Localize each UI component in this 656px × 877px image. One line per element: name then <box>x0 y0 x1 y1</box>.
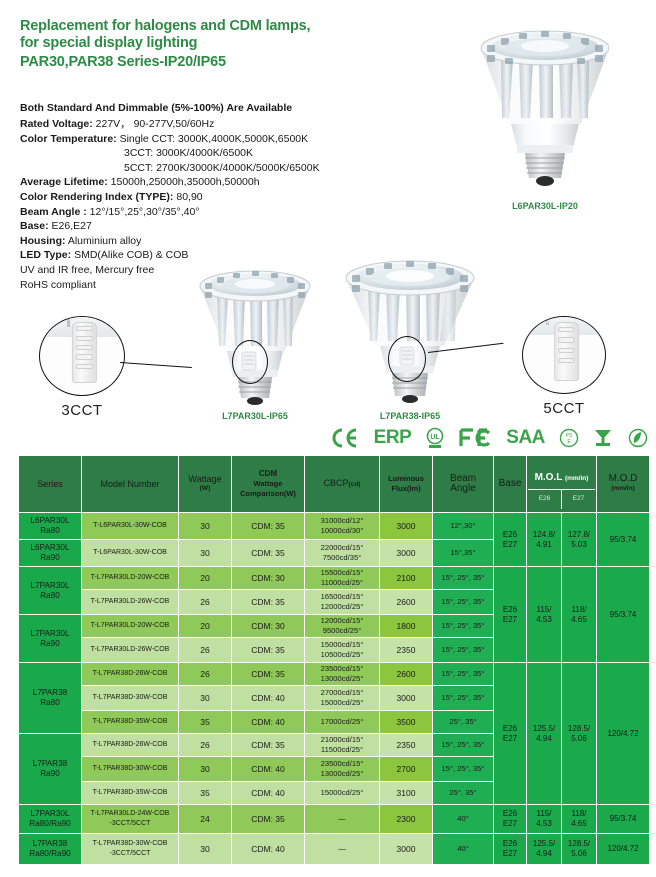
cell-series: L7PAR30LRa80 <box>19 567 81 614</box>
cell-cbcp: 23500cd/15°13000cd/25° <box>305 757 379 781</box>
cell-model-number: T-L7PAR38D-26W-COB <box>82 663 178 685</box>
cell-cbcp: 27000cd/15°15000cd/25° <box>305 686 379 710</box>
cell-cbcp: 22000cd/15°7500cd/35° <box>305 540 379 566</box>
bulb-l6par30l-icon <box>455 14 635 194</box>
cell-beam-angle: 15°, 25°, 35° <box>433 567 493 589</box>
cell-series: L7PAR30LRa90 <box>19 615 81 662</box>
table-row: L6PAR30LRa80T-L6PAR30L-30W-COB30CDM: 353… <box>19 513 649 539</box>
saa-mark-label: SAA <box>506 427 545 449</box>
cell-cbcp: 23500cd/15°13000cd/25° <box>305 663 379 685</box>
cell-wattage: 35 <box>179 711 231 733</box>
product-caption-l7par30l: L7PAR30L-IP65 <box>180 411 330 421</box>
cell-beam-angle: 25°, 35° <box>433 782 493 804</box>
spec-rated-voltage-value: 227V， 90-277V,50/60Hz <box>96 118 215 130</box>
cell-mol-e26: 115/4.53 <box>527 805 561 833</box>
ul-mark-icon: UL <box>425 427 445 449</box>
svg-text:RoHS: RoHS <box>633 444 643 448</box>
col-model-number: Model Number <box>82 456 178 512</box>
cell-wattage: 30 <box>179 686 231 710</box>
cell-wattage: 20 <box>179 567 231 589</box>
spec-color-temperature-value: Single CCT: 3000K,4000K,5000K,6500K <box>120 133 309 145</box>
headline-line-1: Replacement for halogens and CDM lamps, <box>20 18 450 35</box>
ce-mark-icon <box>330 427 360 449</box>
cell-cdm-comparison: CDM: 40 <box>232 782 304 804</box>
cell-wattage: 26 <box>179 590 231 614</box>
product-caption-l7par38: L7PAR38-IP65 <box>330 411 490 421</box>
cell-beam-angle: 40° <box>433 805 493 833</box>
cell-wattage: 26 <box>179 734 231 756</box>
cell-luminous-flux: 1800 <box>380 615 432 637</box>
cell-luminous-flux: 2600 <box>380 590 432 614</box>
cct5-scale-labels: 2700K 3000K 4000K 5000K 6500K <box>545 316 550 325</box>
cell-wattage: 30 <box>179 757 231 781</box>
spec-color-temperature: Color Temperature: Single CCT: 3000K,400… <box>20 132 440 147</box>
cell-beam-angle: 15°, 25°, 35° <box>433 663 493 685</box>
product-l7par38-ip65: L7PAR38-IP65 <box>330 246 490 421</box>
cell-mol-e26: 125.5/4.94 <box>527 663 561 804</box>
cell-beam-angle: 12°,30° <box>433 513 493 539</box>
cell-cdm-comparison: CDM: 35 <box>232 805 304 833</box>
cell-cdm-comparison: CDM: 40 <box>232 686 304 710</box>
spec-average-lifetime-label: Average Lifetime: <box>20 176 108 188</box>
cell-luminous-flux: 2300 <box>380 805 432 833</box>
spec-base-label: Base: <box>20 220 49 232</box>
col-cbcp-title: CBCP <box>324 478 349 488</box>
cell-wattage: 30 <box>179 834 231 864</box>
cell-model-number: T-L7PAR30LD-26W-COB <box>82 590 178 614</box>
col-beam-l2: Angle <box>434 484 492 494</box>
cell-mod: 95/3.74 <box>597 513 649 566</box>
col-mol-unit: (mm/in) <box>565 475 588 482</box>
cell-beam-angle: 15°, 25°, 35° <box>433 615 493 637</box>
svg-text:E: E <box>567 439 571 445</box>
spec-led-type-label: LED Type: <box>20 249 71 261</box>
col-mol-e27: E27 <box>562 490 595 509</box>
table-row: L7PAR38Ra80/Ra90T-L7PAR38D-30W-COB-3CCT/… <box>19 834 649 864</box>
cell-series: L7PAR30LRa80/Ra90 <box>19 805 81 833</box>
headline-series: PAR30,PAR38 Series-IP20/IP65 <box>20 53 450 72</box>
cell-luminous-flux: 3000 <box>380 686 432 710</box>
col-base: Base <box>494 456 526 512</box>
dlc-mark-icon <box>592 428 614 448</box>
cell-cdm-comparison: CDM: 35 <box>232 638 304 662</box>
cell-cbcp: — <box>305 834 379 864</box>
col-cdm-comparison: CDM Wattage Comparison(W) <box>232 456 304 512</box>
col-wattage-unit: (W) <box>180 484 230 494</box>
cell-model-number: T-L7PAR30LD-20W-COB <box>82 615 178 637</box>
cell-mol-e26: 115/4.53 <box>527 567 561 662</box>
l7par38-switch-highlight <box>388 336 426 382</box>
certification-logos: ERP UL SAA PS E Ro <box>330 424 648 452</box>
cell-cbcp: 15000cd/25° <box>305 782 379 804</box>
cct3-switch-zoom: 3000K 4000K 6500K <box>39 316 125 396</box>
cct3-switch-body <box>72 322 97 383</box>
cell-base: E26E27 <box>494 834 526 864</box>
product-l6par30l-ip20: L6PAR30L-IP20 <box>455 14 635 211</box>
cell-cbcp: 12000cd/15°9500cd/25° <box>305 615 379 637</box>
cell-cbcp: 16500cd/15°12000cd/25° <box>305 590 379 614</box>
cell-luminous-flux: 2350 <box>380 638 432 662</box>
cell-wattage: 20 <box>179 615 231 637</box>
cell-model-number: T-L7PAR30LD-20W-COB <box>82 567 178 589</box>
col-cdm-l1: CDM <box>233 469 303 479</box>
bulb-l7par30l-icon <box>180 256 330 408</box>
spec-rated-voltage: Rated Voltage: 227V， 90-277V,50/60Hz <box>20 117 440 132</box>
cell-mol-e26: 124.8/4.91 <box>527 513 561 566</box>
cell-luminous-flux: 2350 <box>380 734 432 756</box>
spec-average-lifetime: Average Lifetime: 15000h,25000h,35000h,5… <box>20 175 440 190</box>
cell-mod: 95/3.74 <box>597 567 649 662</box>
cell-beam-angle: 15°, 25°, 35° <box>433 686 493 710</box>
col-cbcp: CBCP(cd) <box>305 456 379 512</box>
bulb-l7par38-icon <box>330 246 490 408</box>
cell-model-number: T-L7PAR30LD-26W-COB <box>82 638 178 662</box>
spec-beam-angle: Beam Angle : 12°/15°,25°,30°/35°,40° <box>20 205 440 220</box>
cell-cbcp: 21000cd/15°11500cd/25° <box>305 734 379 756</box>
col-mol-title-row: M.O.L (mm/in) <box>528 460 595 489</box>
spec-color-temperature-label: Color Temperature: <box>20 133 117 145</box>
col-series: Series <box>19 456 81 512</box>
cct5-callout: 2700K 3000K 4000K 5000K 6500K 5CCT <box>508 316 620 417</box>
cell-cbcp: 15000cd/15°10500cd/25° <box>305 638 379 662</box>
svg-text:UL: UL <box>430 434 440 441</box>
col-mod: M.O.D (mm/in) <box>597 456 649 512</box>
spec-rated-voltage-label: Rated Voltage: <box>20 118 93 130</box>
cell-model-number: T-L6PAR30L-30W-COB <box>82 540 178 566</box>
col-mol-title: M.O.L <box>535 472 563 483</box>
cell-wattage: 30 <box>179 513 231 539</box>
cell-mod: 95/3.74 <box>597 805 649 833</box>
cct5-switch-body <box>554 322 579 381</box>
cell-luminous-flux: 3000 <box>380 513 432 539</box>
cell-mol-e27: 118/4.65 <box>562 805 596 833</box>
spec-base: Base: E26,E27 <box>20 219 440 234</box>
cell-cbcp: 15500cd/15°11000cd/25° <box>305 567 379 589</box>
cell-model-number: T-L7PAR38D-30W-COB-3CCT/5CCT <box>82 834 178 864</box>
cell-cbcp: 31000cd/12°10000cd/30° <box>305 513 379 539</box>
cell-series: L6PAR30LRa80 <box>19 513 81 539</box>
cell-cdm-comparison: CDM: 35 <box>232 734 304 756</box>
cell-mol-e27: 128.5/5.06 <box>562 663 596 804</box>
cct5-switch-zoom: 2700K 3000K 4000K 5000K 6500K <box>522 316 606 394</box>
cell-cdm-comparison: CDM: 40 <box>232 757 304 781</box>
cell-luminous-flux: 2700 <box>380 757 432 781</box>
cell-cdm-comparison: CDM: 30 <box>232 615 304 637</box>
col-cdm-l2: Wattage <box>233 479 303 489</box>
fcc-mark-icon <box>459 428 493 448</box>
spec-cri-value: 80,90 <box>176 191 202 203</box>
cell-mol-e27: 127.8/5.03 <box>562 513 596 566</box>
cell-series: L7PAR38Ra90 <box>19 734 81 804</box>
cell-base: E26E27 <box>494 805 526 833</box>
cell-cdm-comparison: CDM: 35 <box>232 590 304 614</box>
page-headline: Replacement for halogens and CDM lamps, … <box>20 18 450 72</box>
table-row: L7PAR30LRa80T-L7PAR30LD-20W-COB20CDM: 30… <box>19 567 649 589</box>
cell-cdm-comparison: CDM: 40 <box>232 834 304 864</box>
cell-wattage: 26 <box>179 663 231 685</box>
cell-wattage: 35 <box>179 782 231 804</box>
cell-model-number: T-L7PAR38D-30W-COB <box>82 686 178 710</box>
cell-model-number: T-L7PAR38D-26W-COB <box>82 734 178 756</box>
cell-wattage: 26 <box>179 638 231 662</box>
spec-dimmable: Both Standard And Dimmable (5%-100%) Are… <box>20 100 440 117</box>
cell-beam-angle: 15°,35° <box>433 540 493 566</box>
col-luminous-flux: Luminous Flux(lm) <box>380 456 432 512</box>
col-mod-unit: (mm/in) <box>598 484 648 494</box>
cell-beam-angle: 15°, 25°, 35° <box>433 757 493 781</box>
cell-series: L7PAR38Ra80 <box>19 663 81 733</box>
cell-series: L7PAR38Ra80/Ra90 <box>19 834 81 864</box>
cell-model-number: T-L7PAR30LD-24W-COB-3CCT/5CCT <box>82 805 178 833</box>
col-mol-e26: E26 <box>528 490 562 509</box>
cell-cdm-comparison: CDM: 40 <box>232 711 304 733</box>
cell-beam-angle: 15°, 25°, 35° <box>433 590 493 614</box>
cell-beam-angle: 40° <box>433 834 493 864</box>
spec-cct5: 5CCT: 2700K/3000K/4000K/5000K/6500K <box>20 161 440 176</box>
spec-cri-label: Color Rendering Index (TYPE): <box>20 191 173 203</box>
col-flux-l1: Luminous <box>381 474 431 484</box>
rohs-mark-icon: RoHS <box>628 428 648 448</box>
col-cdm-l3: Comparison(W) <box>233 489 303 499</box>
cct5-label: 5CCT <box>508 400 620 417</box>
cell-beam-angle: 25°, 35° <box>433 711 493 733</box>
cell-luminous-flux: 3000 <box>380 540 432 566</box>
cell-luminous-flux: 2600 <box>380 663 432 685</box>
cell-model-number: T-L6PAR30L-30W-COB <box>82 513 178 539</box>
cell-base: E26E27 <box>494 663 526 804</box>
cell-cbcp: — <box>305 805 379 833</box>
spec-led-type-value: SMD(Alike COB) & COB <box>74 249 188 261</box>
cell-cdm-comparison: CDM: 35 <box>232 663 304 685</box>
col-beam-angle: Beam Angle <box>433 456 493 512</box>
cell-cdm-comparison: CDM: 35 <box>232 513 304 539</box>
table-body: L6PAR30LRa80T-L6PAR30L-30W-COB30CDM: 353… <box>19 513 649 864</box>
cell-mol-e27: 118/4.65 <box>562 567 596 662</box>
table-header-row: Series Model Number Wattage (W) CDM Watt… <box>19 456 649 512</box>
cell-luminous-flux: 3100 <box>380 782 432 804</box>
specification-table: Series Model Number Wattage (W) CDM Watt… <box>18 455 650 865</box>
col-wattage-title: Wattage <box>180 474 230 484</box>
cell-series: L6PAR30LRa90 <box>19 540 81 566</box>
cell-model-number: T-L7PAR38D-30W-COB <box>82 757 178 781</box>
cell-luminous-flux: 2100 <box>380 567 432 589</box>
l7par30l-switch-highlight <box>232 340 268 384</box>
cct3-callout: 3000K 4000K 6500K 3CCT <box>26 316 138 419</box>
product-l7par30l-ip65: L7PAR30L-IP65 <box>180 256 330 421</box>
col-cbcp-unit: (cd) <box>349 481 361 488</box>
col-mod-title: M.O.D <box>598 474 648 484</box>
col-flux-l2: Flux(lm) <box>381 484 431 494</box>
spec-beam-angle-value: 12°/15°,25°,30°/35°,40° <box>90 206 200 218</box>
cell-model-number: T-L7PAR38D-35W-COB <box>82 711 178 733</box>
cell-luminous-flux: 3500 <box>380 711 432 733</box>
cell-mol-e27: 128.5/5.06 <box>562 834 596 864</box>
cell-beam-angle: 15°, 25°, 35° <box>433 638 493 662</box>
cell-mod: 120/4.72 <box>597 834 649 864</box>
col-wattage: Wattage (W) <box>179 456 231 512</box>
cct3-scale-labels: 3000K 4000K 6500K <box>66 316 71 327</box>
spec-housing-label: Housing: <box>20 235 66 247</box>
cell-beam-angle: 15°, 25°, 35° <box>433 734 493 756</box>
cell-cbcp: 17000cd/25° <box>305 711 379 733</box>
cct3-label: 3CCT <box>26 402 138 419</box>
spec-housing-value: Aluminium alloy <box>68 235 142 247</box>
table-row: L7PAR30LRa80/Ra90T-L7PAR30LD-24W-COB-3CC… <box>19 805 649 833</box>
spec-base-value: E26,E27 <box>52 220 92 232</box>
spec-average-lifetime-value: 15000h,25000h,35000h,50000h <box>111 176 260 188</box>
cell-cdm-comparison: CDM: 30 <box>232 567 304 589</box>
cell-mod: 120/4.72 <box>597 663 649 804</box>
erp-mark-label: ERP <box>374 427 412 449</box>
spec-beam-angle-label: Beam Angle : <box>20 206 87 218</box>
cell-wattage: 24 <box>179 805 231 833</box>
cell-wattage: 30 <box>179 540 231 566</box>
cell-model-number: T-L7PAR38D-35W-COB <box>82 782 178 804</box>
table-row: L7PAR38Ra80T-L7PAR38D-26W-COB26CDM: 3523… <box>19 663 649 685</box>
cell-cdm-comparison: CDM: 35 <box>232 540 304 566</box>
cell-luminous-flux: 3000 <box>380 834 432 864</box>
cell-mol-e26: 125.5/4.94 <box>527 834 561 864</box>
spec-cct3: 3CCT: 3000K/4000K/6500K <box>20 146 440 161</box>
spec-cri: Color Rendering Index (TYPE): 80,90 <box>20 190 440 205</box>
cell-base: E26E27 <box>494 513 526 566</box>
col-mol-group: M.O.L (mm/in) E26 E27 <box>527 456 596 512</box>
pse-mark-icon: PS E <box>559 428 579 448</box>
headline-line-2: for special display lighting <box>20 35 450 52</box>
product-caption-l6par30l: L6PAR30L-IP20 <box>455 201 635 211</box>
cell-base: E26E27 <box>494 567 526 662</box>
